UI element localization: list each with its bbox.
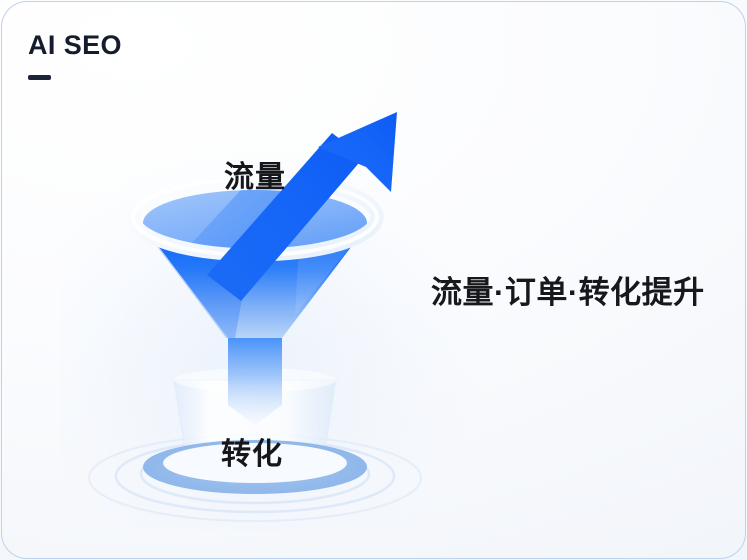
label-conversion: 转化 <box>221 429 283 473</box>
page-title-block: AI SEO <box>28 32 122 80</box>
page-title: AI SEO <box>28 32 122 59</box>
label-traffic: 流量 <box>224 152 286 196</box>
slide-canvas: AI SEO <box>0 0 747 560</box>
headline-text: 流量·订单·转化提升 <box>431 274 705 311</box>
title-underline-rule <box>28 75 51 80</box>
